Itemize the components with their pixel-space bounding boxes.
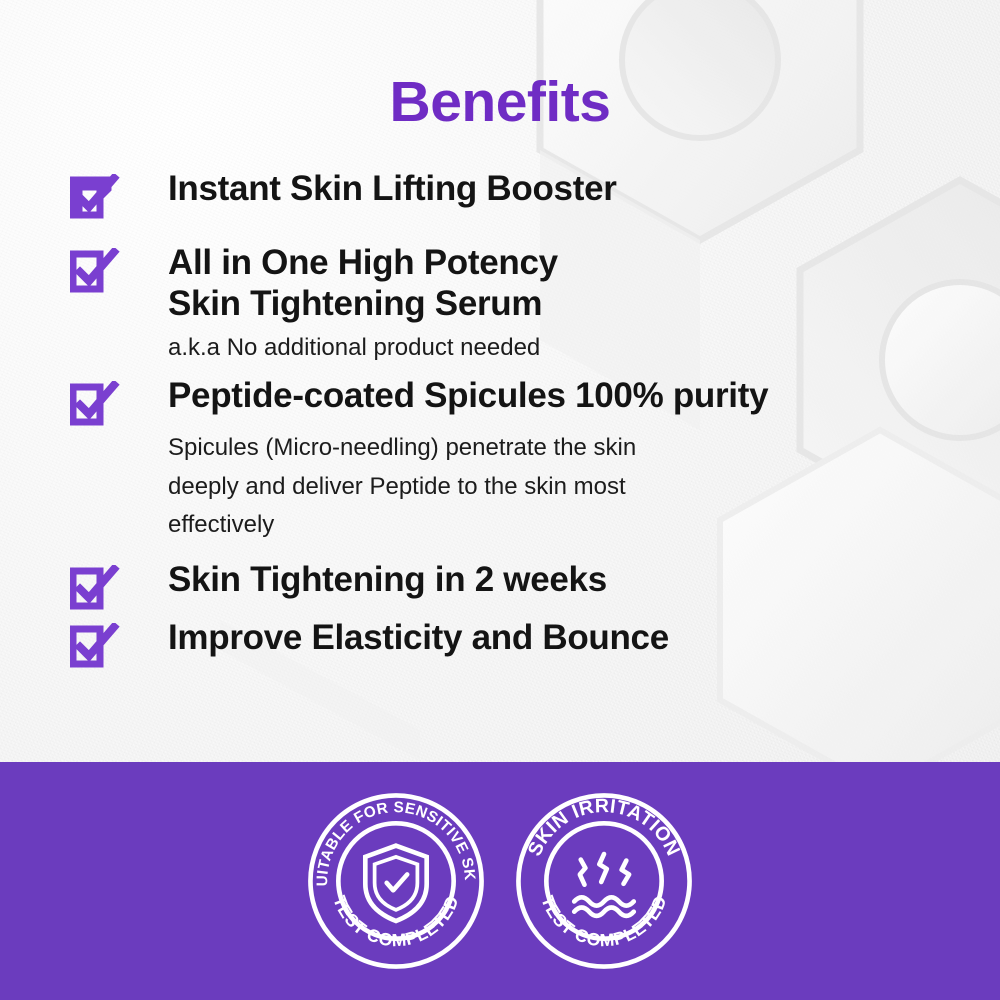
skin-irritation-icon — [574, 854, 634, 916]
benefit-description-3-line1: Spicules (Micro-needling) penetrate the … — [168, 429, 970, 468]
benefit-heading-5: Improve Elasticity and Bounce — [168, 617, 970, 658]
benefit-item-1: Instant Skin Lifting Booster — [0, 168, 1000, 224]
benefit-item-2: All in One High Potency Skin Tightening … — [0, 242, 1000, 365]
benefit-description-3-line3: effectively — [168, 506, 970, 545]
benefit-body-3: Peptide-coated Spicules 100% purity Spic… — [168, 375, 1000, 545]
benefit-heading-3: Peptide-coated Spicules 100% purity — [168, 375, 970, 416]
benefits-list: Instant Skin Lifting Booster All in One … — [0, 168, 1000, 673]
svg-text:SKIN IRRITATION: SKIN IRRITATION — [524, 795, 685, 859]
benefit-description-3-line2: deeply and deliver Peptide to the skin m… — [168, 468, 970, 507]
benefit-item-5: Improve Elasticity and Bounce — [0, 617, 1000, 673]
benefit-body-1: Instant Skin Lifting Booster — [168, 168, 1000, 209]
checkbox-checked-icon — [70, 623, 120, 673]
badge-2-top-text: SKIN IRRITATION — [524, 795, 685, 859]
benefit-item-4: Skin Tightening in 2 weeks — [0, 559, 1000, 615]
benefit-check-cell-3 — [0, 375, 168, 431]
benefits-infographic: Benefits Instant Skin Lifting Booster — [0, 0, 1000, 1000]
benefit-subtext-2: a.k.a No additional product needed — [168, 331, 970, 366]
badge-sensitive-skin-test: SUITABLE FOR SENSITIVE SKIN TEST COMPLET… — [303, 788, 489, 974]
benefit-check-cell-2 — [0, 242, 168, 298]
checkbox-checked-icon — [70, 248, 120, 298]
benefit-heading-2-line1: All in One High Potency — [168, 242, 970, 283]
benefit-heading-2-line2: Skin Tightening Serum — [168, 283, 970, 324]
checkbox-checked-icon — [70, 174, 120, 224]
benefit-check-cell-5 — [0, 617, 168, 673]
benefit-check-cell-1 — [0, 168, 168, 224]
benefit-item-3: Peptide-coated Spicules 100% purity Spic… — [0, 375, 1000, 545]
checkbox-checked-icon — [70, 565, 120, 615]
benefit-body-2: All in One High Potency Skin Tightening … — [168, 242, 1000, 365]
benefit-check-cell-4 — [0, 559, 168, 615]
shield-check-icon — [365, 846, 426, 921]
benefit-heading-1: Instant Skin Lifting Booster — [168, 168, 970, 209]
badge-skin-irritation-test: SKIN IRRITATION TEST COMPLETED — [511, 788, 697, 974]
benefit-description-3: Spicules (Micro-needling) penetrate the … — [168, 429, 970, 546]
benefit-body-5: Improve Elasticity and Bounce — [168, 617, 1000, 658]
benefit-body-4: Skin Tightening in 2 weeks — [168, 559, 1000, 600]
benefit-heading-4: Skin Tightening in 2 weeks — [168, 559, 970, 600]
certification-footer: SUITABLE FOR SENSITIVE SKIN TEST COMPLET… — [0, 762, 1000, 1000]
checkbox-checked-icon — [70, 381, 120, 431]
page-title: Benefits — [0, 74, 1000, 131]
